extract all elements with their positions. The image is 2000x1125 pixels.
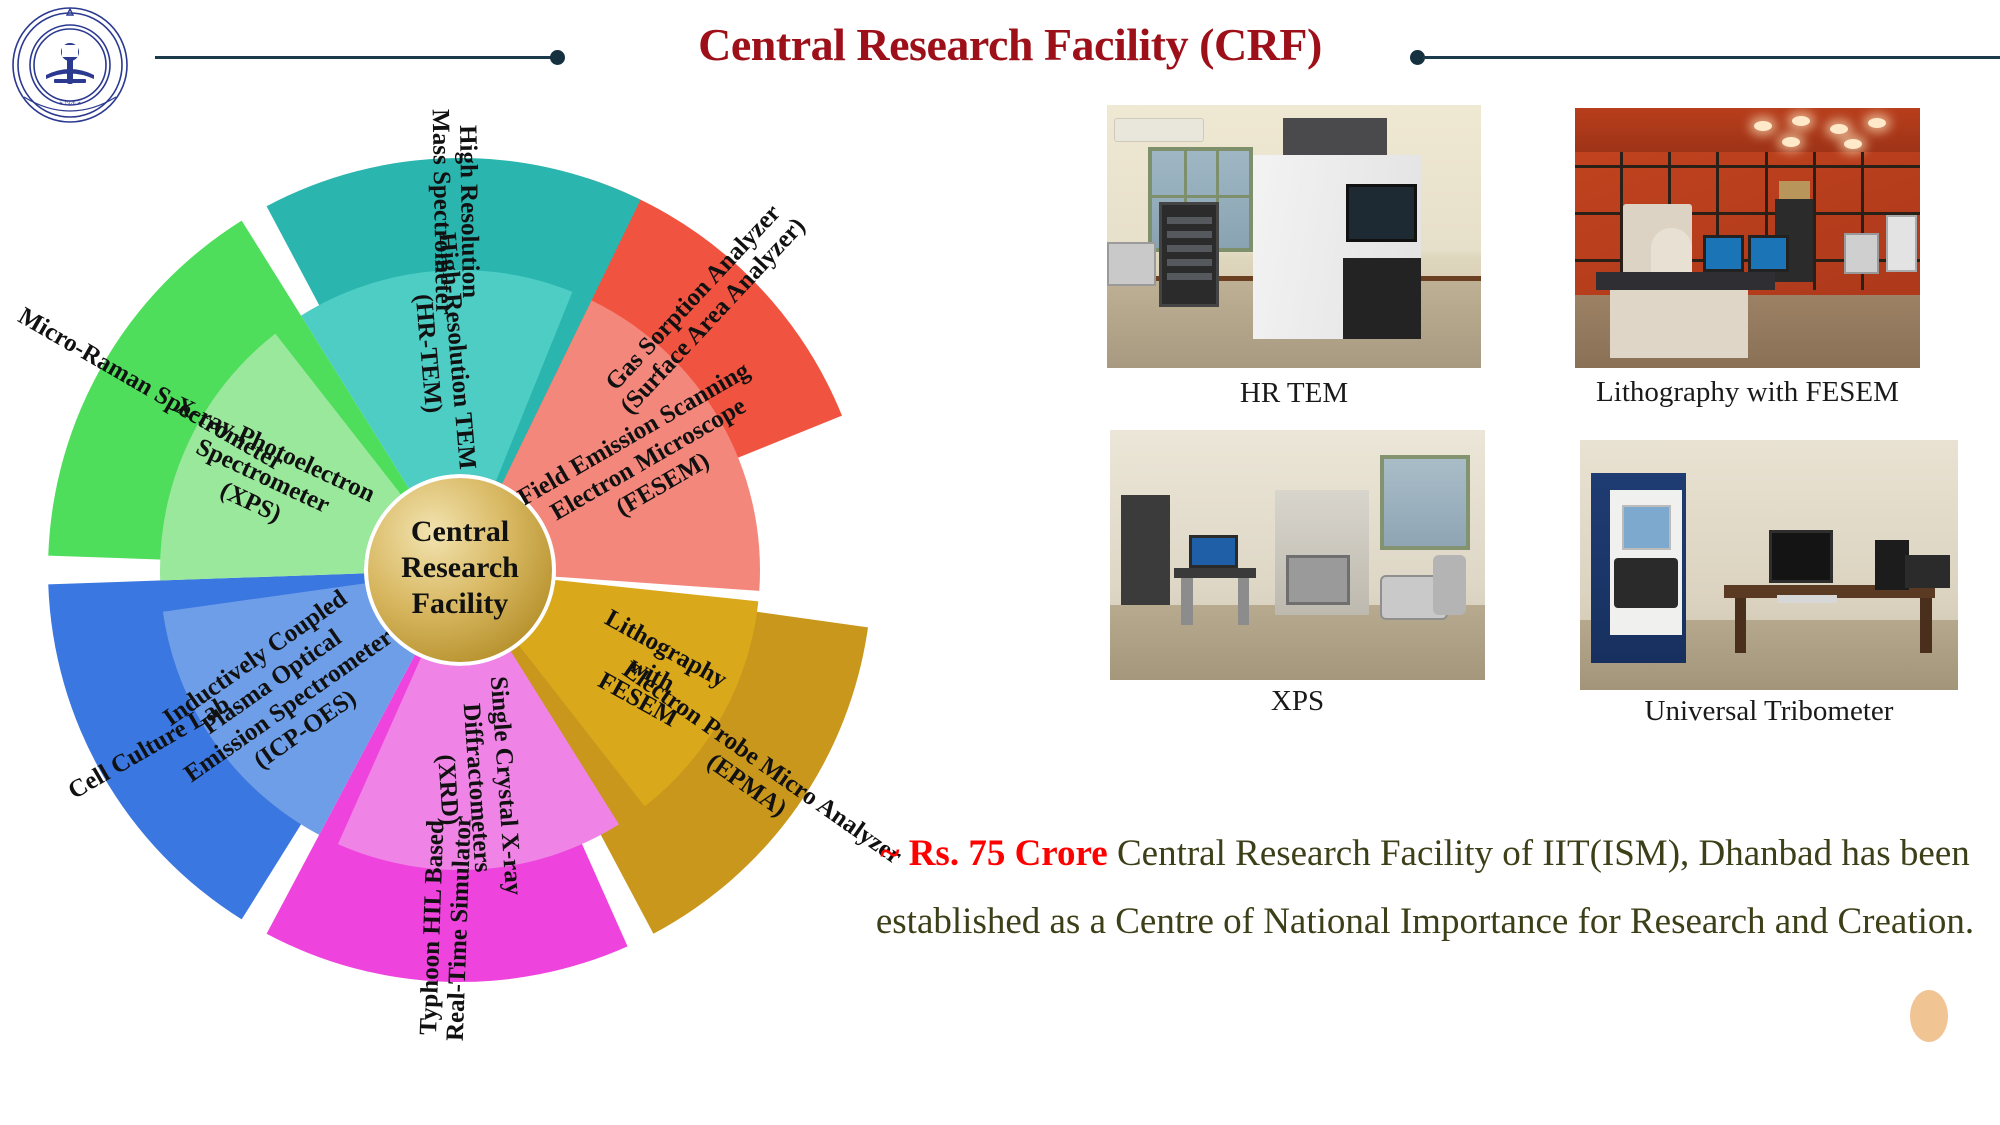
wheel-label-line: (XRD) (432, 754, 464, 827)
lithography-fesem-photo: Lithography with FESEM (1575, 108, 1920, 368)
hr-tem-photo: HR TEM (1107, 105, 1481, 368)
universal-tribometer-photo: Universal Tribometer (1580, 440, 1958, 690)
rule-left (155, 56, 555, 59)
lithography-fesem-caption: Lithography with FESEM (1575, 376, 1920, 409)
crf-wheel-diagram: Gas Sorption Analyzer(Surface Area Analy… (0, 85, 940, 1085)
hub-line-1: Central (411, 515, 509, 548)
xps-photo: XPS (1110, 430, 1485, 680)
hr-tem-caption: HR TEM (1107, 377, 1481, 410)
universal-tribometer-caption: Universal Tribometer (1580, 695, 1958, 728)
universal-tribometer-image (1580, 440, 1958, 690)
decorative-oval (1910, 990, 1948, 1042)
page-title: Central Research Facility (CRF) (600, 18, 1420, 71)
xps-image (1110, 430, 1485, 680)
hub-line-2: Research (401, 551, 519, 584)
hr-tem-image (1107, 105, 1481, 368)
funding-amount: ~ Rs. 75 Crore (880, 833, 1108, 874)
funding-statement: ~ Rs. 75 Crore Central Research Facility… (860, 820, 1990, 957)
lithography-fesem-image (1575, 108, 1920, 368)
hub-line-3: Facility (412, 587, 509, 620)
rule-right (1423, 56, 2000, 59)
xps-caption: XPS (1110, 685, 1485, 718)
rule-dot-left (550, 50, 565, 65)
slide-canvas: ★ 1926 ★ Central Research Facility (CRF)… (0, 0, 2000, 1125)
wheel-segment-label-typhoon-hil-simulator: Typhoon HIL BasedReal-Time Simulator (415, 814, 477, 1041)
